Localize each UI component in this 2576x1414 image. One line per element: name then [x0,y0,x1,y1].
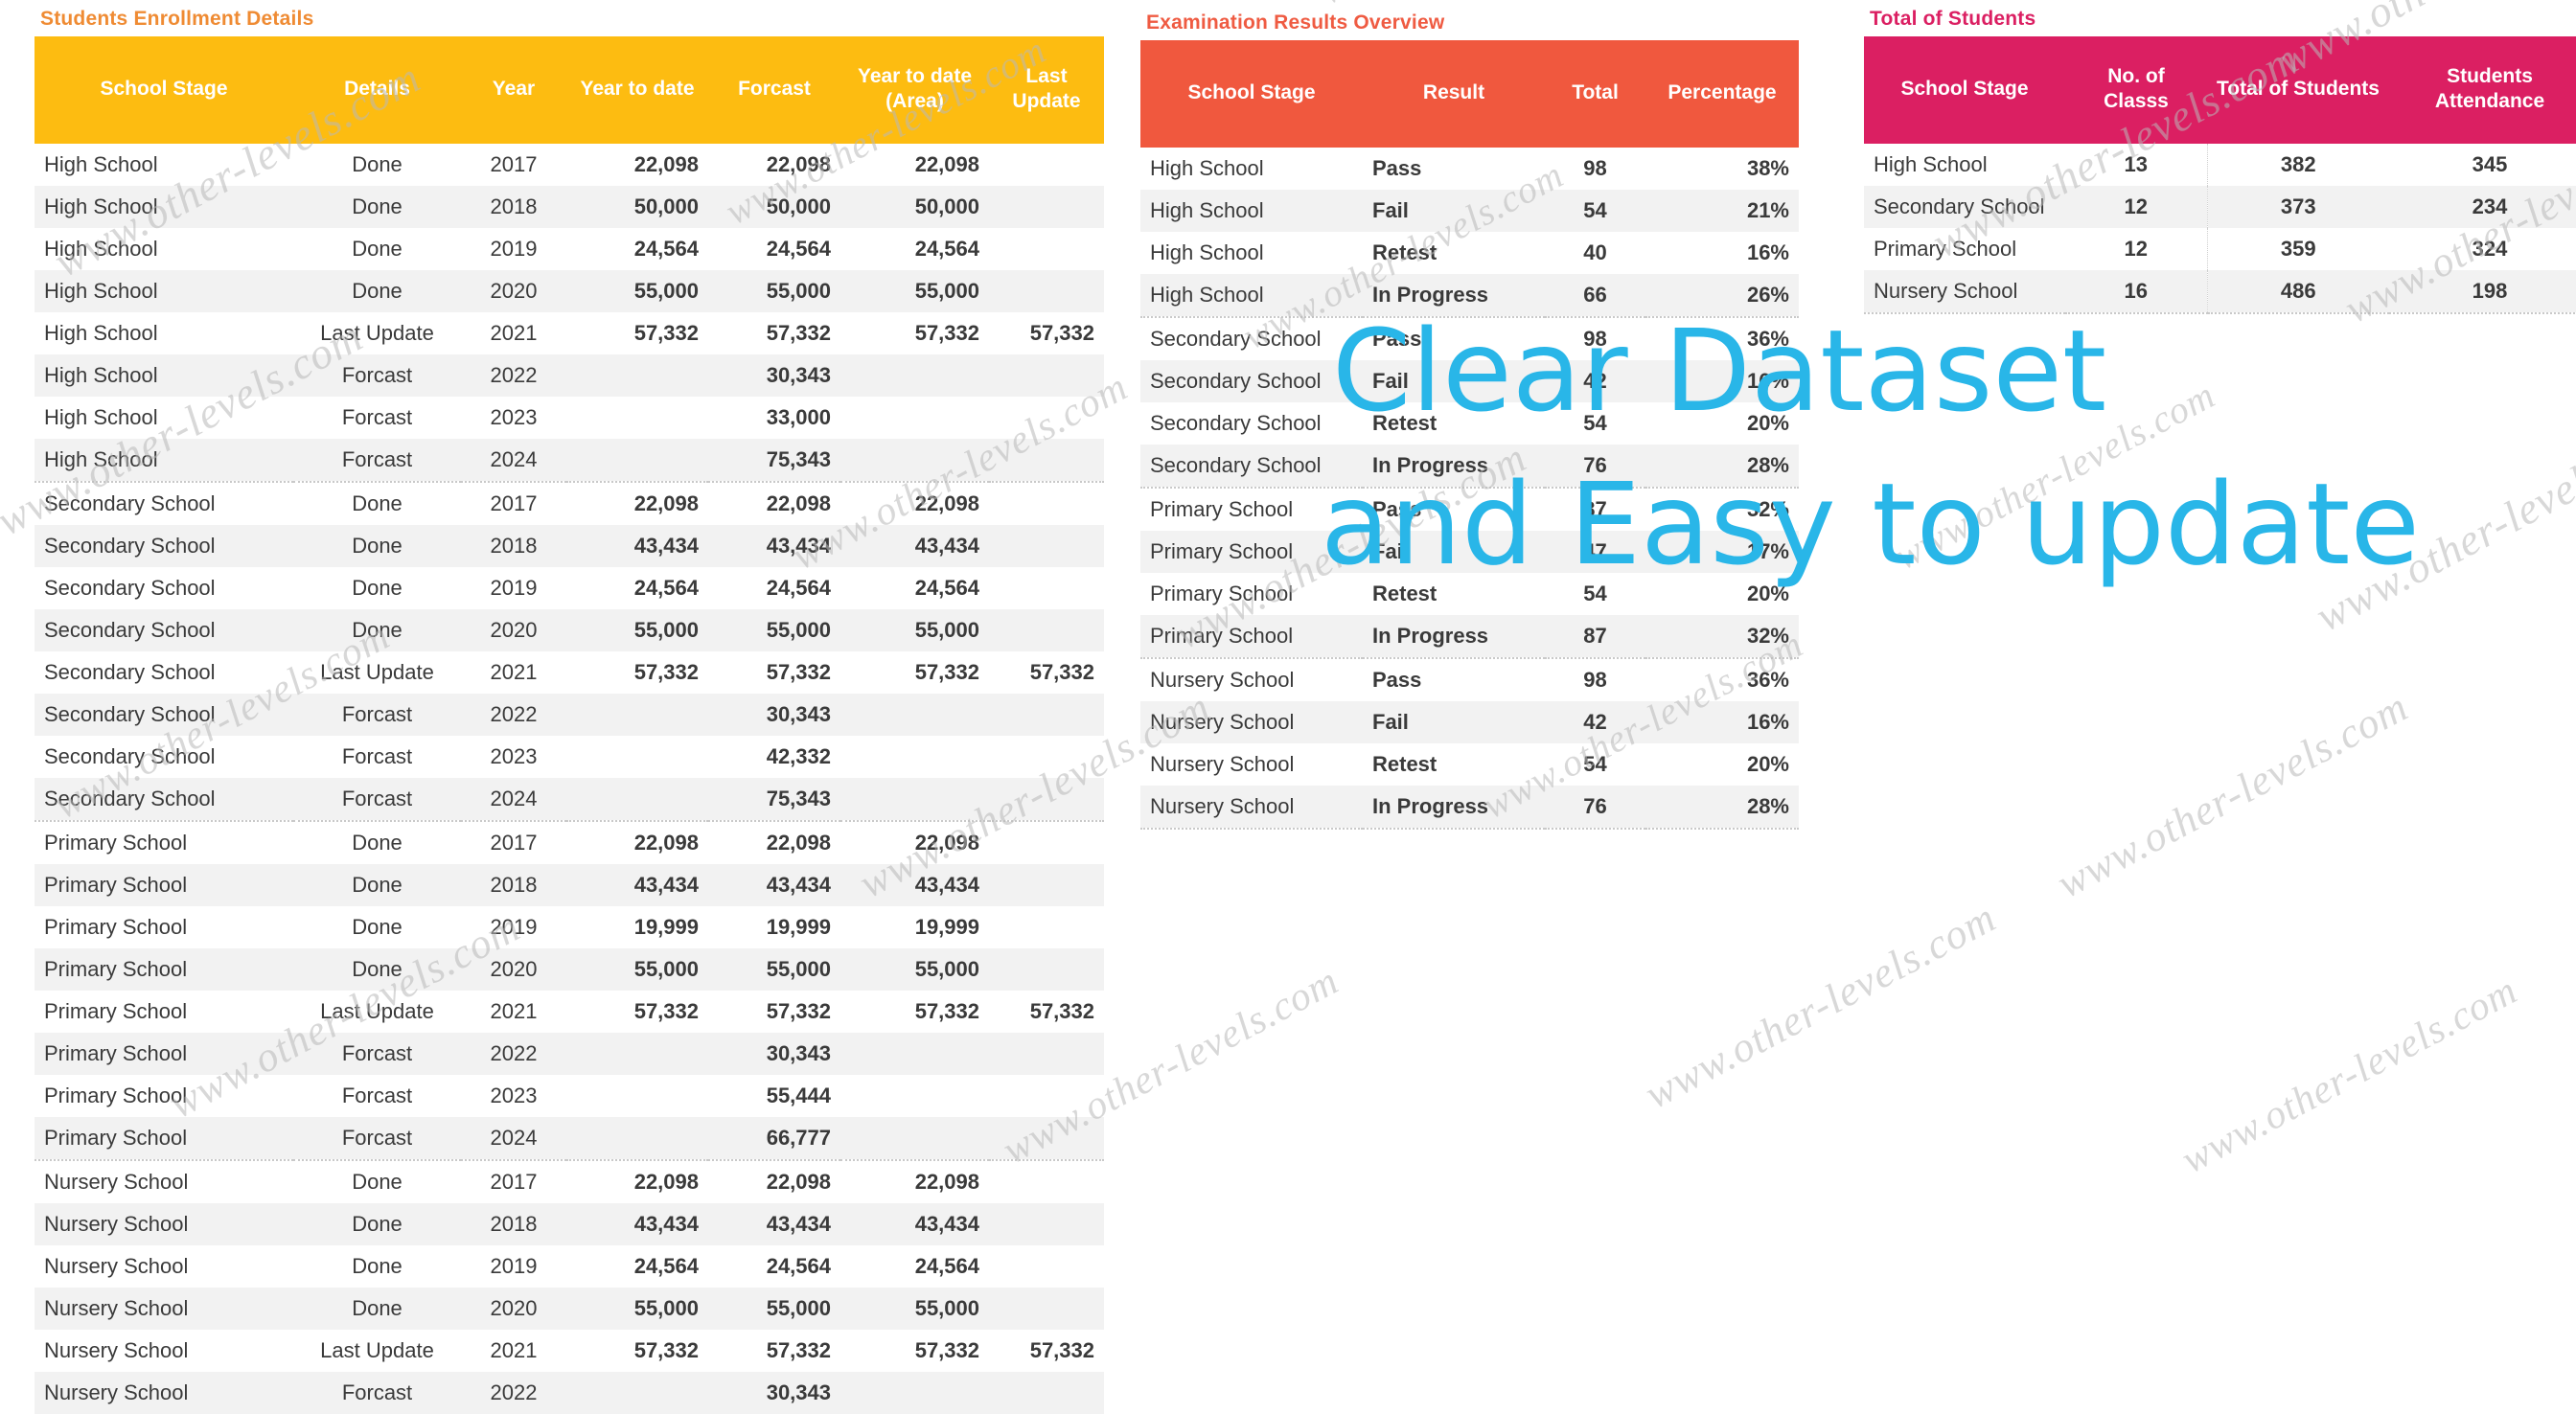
cell-last-update [989,144,1104,186]
exam-table-head: School Stage Result Total Percentage [1140,40,1799,148]
cell-last-update: 57,332 [989,312,1104,354]
cell-year-to-date-area [840,778,989,821]
cell-percentage: 20% [1645,402,1799,445]
cell-total: 42 [1545,360,1645,402]
cell-year-to-date: 24,564 [566,1245,708,1288]
cell-year-to-date-area: 22,098 [840,144,989,186]
table-row[interactable]: Primary SchoolRetest5420% [1140,573,1799,615]
cell-total: 87 [1545,488,1645,531]
table-row[interactable]: Primary SchoolDone202055,00055,00055,000 [34,948,1104,991]
cell-year: 2021 [461,651,566,694]
cell-details: Forcast [293,354,461,397]
table-row[interactable]: Secondary School1237323478 [1864,186,2576,228]
cell-details: Forcast [293,1372,461,1414]
cell-no-of-class: 12 [2065,228,2207,270]
cell-result: Retest [1363,743,1545,786]
cell-year-to-date: 55,000 [566,1288,708,1330]
cell-school-stage: Nursery School [34,1372,293,1414]
col-total-of-students[interactable]: Total of Students [2207,36,2389,144]
table-row[interactable]: Nursery SchoolDone201722,09822,09822,098 [34,1160,1104,1203]
cell-year-to-date-area: 50,000 [840,186,989,228]
cell-school-stage: Nursery School [34,1330,293,1372]
cell-details: Done [293,864,461,906]
table-row[interactable]: Nursery SchoolFail4216% [1140,701,1799,743]
cell-year-to-date: 19,999 [566,906,708,948]
table-row[interactable]: Nursery SchoolDone202055,00055,00055,000 [34,1288,1104,1330]
cell-year-to-date: 22,098 [566,1160,708,1203]
cell-year-to-date: 43,434 [566,1203,708,1245]
cell-last-update [989,1033,1104,1075]
table-row[interactable]: High SchoolDone202055,00055,00055,000 [34,270,1104,312]
cell-school-stage: Primary School [34,1075,293,1117]
cell-school-stage: Nursery School [1140,701,1363,743]
cell-year: 2022 [461,694,566,736]
watermark-text: www.other-levels.com [2308,406,2576,642]
cell-year-to-date: 57,332 [566,651,708,694]
cell-school-stage: High School [34,270,293,312]
cell-year: 2017 [461,144,566,186]
cell-year-to-date-area: 24,564 [840,1245,989,1288]
col-school-stage[interactable]: School Stage [1140,40,1363,148]
cell-forcast: 33,000 [708,397,840,439]
cell-year: 2017 [461,821,566,864]
cell-school-stage: High School [34,354,293,397]
cell-details: Forcast [293,439,461,482]
cell-forcast: 24,564 [708,1245,840,1288]
col-school-stage[interactable]: School Stage [1864,36,2065,144]
table-row[interactable]: High SchoolIn Progress6626% [1140,274,1799,317]
table-row[interactable]: Secondary SchoolDone201924,56424,56424,5… [34,567,1104,609]
table-row[interactable]: Secondary SchoolPass9836% [1140,317,1799,360]
cell-school-stage: High School [1140,274,1363,317]
cell-year-to-date-area: 43,434 [840,525,989,567]
table-row[interactable]: High SchoolForcast202230,343 [34,354,1104,397]
cell-school-stage: Secondary School [34,525,293,567]
cell-no-of-class: 13 [2065,144,2207,186]
cell-year-to-date: 57,332 [566,1330,708,1372]
cell-last-update: 57,332 [989,1330,1104,1372]
cell-year-to-date [566,778,708,821]
cell-percentage: 16% [1645,232,1799,274]
col-year-to-date-area[interactable]: Year to date (Area) [840,36,989,144]
col-total[interactable]: Total [1545,40,1645,148]
cell-last-update: 57,332 [989,651,1104,694]
table-row[interactable]: Primary SchoolDone201919,99919,99919,999 [34,906,1104,948]
cell-school-stage: Secondary School [34,651,293,694]
cell-last-update [989,906,1104,948]
cell-year: 2022 [461,1372,566,1414]
cell-details: Forcast [293,397,461,439]
cell-year-to-date-area: 57,332 [840,1330,989,1372]
cell-details: Done [293,482,461,525]
table-row[interactable]: Nursery SchoolRetest5420% [1140,743,1799,786]
cell-year-to-date [566,1075,708,1117]
cell-last-update [989,1372,1104,1414]
enrollment-table: School Stage Details Year Year to date F… [34,36,1104,1414]
cell-year-to-date: 55,000 [566,609,708,651]
cell-year: 2019 [461,228,566,270]
enrollment-table-body: High SchoolDone201722,09822,09822,098Hig… [34,144,1104,1414]
col-school-stage[interactable]: School Stage [34,36,293,144]
cell-last-update [989,354,1104,397]
col-result[interactable]: Result [1363,40,1545,148]
cell-students-attendance: 198 [2389,270,2576,313]
cell-total: 76 [1545,786,1645,829]
cell-details: Forcast [293,1033,461,1075]
cell-percentage: 26% [1645,274,1799,317]
cell-year: 2022 [461,354,566,397]
col-year[interactable]: Year [461,36,566,144]
cell-forcast: 55,000 [708,609,840,651]
cell-year-to-date-area: 24,564 [840,228,989,270]
cell-details: Done [293,186,461,228]
totals-table-block: Total of Students School Stage No. of Cl… [1864,8,2576,314]
cell-total: 54 [1545,573,1645,615]
table-row[interactable]: Nursery SchoolPass9836% [1140,658,1799,701]
table-row[interactable]: Primary SchoolForcast202466,777 [34,1117,1104,1160]
cell-forcast: 43,434 [708,864,840,906]
cell-details: Done [293,906,461,948]
cell-details: Done [293,144,461,186]
watermark-text: www.other-levels.com [2049,682,2416,908]
cell-school-stage: Primary School [1140,615,1363,658]
cell-total: 66 [1545,274,1645,317]
col-last-update[interactable]: Last Update [989,36,1104,144]
cell-school-stage: Nursery School [1140,743,1363,786]
cell-year-to-date-area [840,1117,989,1160]
cell-students-attendance: 324 [2389,228,2576,270]
cell-school-stage: Primary School [34,948,293,991]
cell-last-update [989,186,1104,228]
cell-percentage: 28% [1645,786,1799,829]
cell-last-update [989,864,1104,906]
col-year-to-date[interactable]: Year to date [566,36,708,144]
table-row[interactable]: Secondary SchoolDone202055,00055,00055,0… [34,609,1104,651]
cell-percentage: 36% [1645,317,1799,360]
cell-total: 98 [1545,658,1645,701]
cell-year-to-date [566,1117,708,1160]
table-row[interactable]: High SchoolFail5421% [1140,190,1799,232]
cell-details: Done [293,1245,461,1288]
exam-table-block: Examination Results Overview School Stag… [1140,11,1763,830]
cell-year-to-date-area [840,694,989,736]
cell-forcast: 42,332 [708,736,840,778]
table-row[interactable]: High SchoolDone201722,09822,09822,098 [34,144,1104,186]
cell-school-stage: Secondary School [1140,360,1363,402]
cell-result: Pass [1363,658,1545,701]
cell-forcast: 24,564 [708,228,840,270]
table-row[interactable]: Secondary SchoolDone201843,43443,43443,4… [34,525,1104,567]
table-row[interactable]: Secondary SchoolForcast202342,332 [34,736,1104,778]
table-row[interactable]: Primary SchoolPass8732% [1140,488,1799,531]
cell-year: 2020 [461,609,566,651]
table-row[interactable]: Secondary SchoolIn Progress7628% [1140,445,1799,488]
cell-school-stage: Primary School [34,991,293,1033]
cell-result: In Progress [1363,445,1545,488]
table-row[interactable]: High SchoolDone201924,56424,56424,564 [34,228,1104,270]
cell-school-stage: Primary School [1140,573,1363,615]
cell-forcast: 75,343 [708,778,840,821]
cell-forcast: 22,098 [708,482,840,525]
cell-year-to-date [566,1033,708,1075]
table-row[interactable]: Nursery SchoolDone201924,56424,56424,564 [34,1245,1104,1288]
table-row[interactable]: High SchoolPass9838% [1140,148,1799,190]
cell-total: 87 [1545,615,1645,658]
table-row[interactable]: Secondary SchoolDone201722,09822,09822,0… [34,482,1104,525]
cell-year-to-date-area: 55,000 [840,948,989,991]
cell-year-to-date-area: 57,332 [840,312,989,354]
cell-forcast: 50,000 [708,186,840,228]
table-row[interactable]: Nursery School1648619896 [1864,270,2576,313]
cell-last-update [989,270,1104,312]
cell-year-to-date [566,736,708,778]
cell-year-to-date: 24,564 [566,567,708,609]
table-row[interactable]: Secondary SchoolForcast202230,343 [34,694,1104,736]
cell-percentage: 20% [1645,743,1799,786]
cell-last-update [989,948,1104,991]
cell-year-to-date-area: 24,564 [840,567,989,609]
cell-school-stage: Nursery School [1864,270,2065,313]
col-students-attendance[interactable]: Students Attendance [2389,36,2576,144]
cell-details: Done [293,609,461,651]
cell-percentage: 32% [1645,488,1799,531]
table-row[interactable]: Primary SchoolLast Update202157,33257,33… [34,991,1104,1033]
cell-year-to-date-area [840,1372,989,1414]
cell-school-stage: Primary School [34,821,293,864]
cell-details: Forcast [293,1117,461,1160]
cell-last-update [989,1160,1104,1203]
table-row[interactable]: Nursery SchoolIn Progress7628% [1140,786,1799,829]
table-row[interactable]: High SchoolLast Update202157,33257,33257… [34,312,1104,354]
cell-last-update [989,228,1104,270]
cell-total: 54 [1545,402,1645,445]
cell-percentage: 32% [1645,615,1799,658]
cell-year: 2023 [461,736,566,778]
table-row[interactable]: Secondary SchoolForcast202475,343 [34,778,1104,821]
enrollment-table-title: Students Enrollment Details [40,8,1060,31]
table-row[interactable]: Primary SchoolForcast202355,444 [34,1075,1104,1117]
cell-school-stage: Nursery School [1140,658,1363,701]
table-row[interactable]: Primary SchoolDone201843,43443,43443,434 [34,864,1104,906]
cell-school-stage: Secondary School [34,736,293,778]
cell-year-to-date-area: 22,098 [840,821,989,864]
cell-last-update [989,1117,1104,1160]
cell-year-to-date-area: 43,434 [840,864,989,906]
cell-school-stage: High School [34,312,293,354]
table-row[interactable]: High SchoolRetest4016% [1140,232,1799,274]
cell-year: 2018 [461,1203,566,1245]
cell-last-update [989,778,1104,821]
exam-table-body: High SchoolPass9838%High SchoolFail5421%… [1140,148,1799,829]
cell-year-to-date-area [840,1033,989,1075]
cell-year-to-date: 50,000 [566,186,708,228]
cell-last-update [989,694,1104,736]
cell-result: Fail [1363,701,1545,743]
cell-total: 54 [1545,743,1645,786]
cell-school-stage: Nursery School [34,1288,293,1330]
table-row[interactable]: Primary SchoolFail4717% [1140,531,1799,573]
cell-forcast: 57,332 [708,651,840,694]
cell-year: 2018 [461,186,566,228]
cell-school-stage: Primary School [34,1117,293,1160]
cell-students-attendance: 234 [2389,186,2576,228]
cell-forcast: 30,343 [708,694,840,736]
cell-year: 2020 [461,270,566,312]
cell-forcast: 55,000 [708,948,840,991]
table-row[interactable]: High SchoolDone201850,00050,00050,000 [34,186,1104,228]
totals-clip-viewport: School Stage No. of Classs Total of Stud… [1864,36,2576,314]
table-row[interactable]: Secondary SchoolLast Update202157,33257,… [34,651,1104,694]
cell-total-of-students: 373 [2207,186,2389,228]
cell-year-to-date: 22,098 [566,482,708,525]
cell-details: Done [293,1288,461,1330]
table-row[interactable]: Primary SchoolForcast202230,343 [34,1033,1104,1075]
cell-details: Last Update [293,991,461,1033]
cell-result: Retest [1363,402,1545,445]
cell-school-stage: Nursery School [1140,786,1363,829]
cell-year: 2019 [461,567,566,609]
cell-details: Forcast [293,778,461,821]
cell-year-to-date: 22,098 [566,821,708,864]
cell-result: Pass [1363,317,1545,360]
cell-year: 2018 [461,525,566,567]
cell-total: 40 [1545,232,1645,274]
cell-year-to-date: 43,434 [566,864,708,906]
cell-total: 98 [1545,148,1645,190]
exam-table-title: Examination Results Overview [1146,11,1763,34]
cell-forcast: 57,332 [708,991,840,1033]
cell-year-to-date: 43,434 [566,525,708,567]
cell-total: 47 [1545,531,1645,573]
cell-total: 42 [1545,701,1645,743]
cell-total-of-students: 359 [2207,228,2389,270]
cell-total: 54 [1545,190,1645,232]
cell-last-update [989,397,1104,439]
table-row[interactable]: High SchoolForcast202333,000 [34,397,1104,439]
table-row[interactable]: Secondary SchoolFail4216% [1140,360,1799,402]
cell-year: 2023 [461,1075,566,1117]
table-row[interactable]: Primary SchoolDone201722,09822,09822,098 [34,821,1104,864]
cell-year: 2022 [461,1033,566,1075]
cell-school-stage: Secondary School [34,694,293,736]
cell-result: Pass [1363,148,1545,190]
cell-details: Done [293,567,461,609]
table-row[interactable]: Nursery SchoolForcast202230,343 [34,1372,1104,1414]
cell-year: 2017 [461,482,566,525]
cell-percentage: 28% [1645,445,1799,488]
cell-year-to-date [566,397,708,439]
cell-forcast: 22,098 [708,821,840,864]
cell-result: In Progress [1363,786,1545,829]
watermark-text: www.other-levels.com [1637,893,2004,1119]
cell-school-stage: High School [34,228,293,270]
cell-last-update [989,821,1104,864]
cell-last-update [989,567,1104,609]
cell-percentage: 36% [1645,658,1799,701]
cell-result: Fail [1363,360,1545,402]
cell-school-stage: Secondary School [34,778,293,821]
cell-school-stage: Primary School [1864,228,2065,270]
cell-year: 2020 [461,1288,566,1330]
cell-year-to-date-area [840,397,989,439]
cell-school-stage: Primary School [34,1033,293,1075]
cell-percentage: 38% [1645,148,1799,190]
cell-details: Last Update [293,1330,461,1372]
table-row[interactable]: Secondary SchoolRetest5420% [1140,402,1799,445]
cell-result: Retest [1363,573,1545,615]
cell-details: Done [293,948,461,991]
col-no-of-class[interactable]: No. of Classs [2065,36,2207,144]
cell-details: Last Update [293,312,461,354]
cell-forcast: 55,444 [708,1075,840,1117]
watermark-text: www.other-levels.com [1887,372,2222,579]
cell-forcast: 75,343 [708,439,840,482]
cell-last-update [989,1075,1104,1117]
cell-school-stage: Secondary School [1140,445,1363,488]
cell-details: Done [293,270,461,312]
cell-year-to-date-area: 55,000 [840,609,989,651]
exam-header-row: School Stage Result Total Percentage [1140,40,1799,148]
cell-year-to-date: 57,332 [566,991,708,1033]
col-percentage[interactable]: Percentage [1645,40,1799,148]
cell-last-update [989,1288,1104,1330]
cell-year: 2021 [461,1330,566,1372]
cell-percentage: 20% [1645,573,1799,615]
cell-result: Fail [1363,190,1545,232]
cell-forcast: 19,999 [708,906,840,948]
cell-forcast: 22,098 [708,144,840,186]
cell-year-to-date: 55,000 [566,948,708,991]
cell-year-to-date-area: 22,098 [840,1160,989,1203]
cell-school-stage: Secondary School [1864,186,2065,228]
totals-table-title: Total of Students [1870,8,2576,31]
watermark-text: www.other-levels.com [2174,968,2525,1183]
dashboard-canvas: www.other-levels.comwww.other-levels.com… [0,0,2576,1414]
table-row[interactable]: Nursery SchoolLast Update202157,33257,33… [34,1330,1104,1372]
col-forcast[interactable]: Forcast [708,36,840,144]
table-row[interactable]: Primary SchoolIn Progress8732% [1140,615,1799,658]
cell-school-stage: Secondary School [34,567,293,609]
cell-no-of-class: 16 [2065,270,2207,313]
cell-result: In Progress [1363,615,1545,658]
enrollment-table-head: School Stage Details Year Year to date F… [34,36,1104,144]
table-row[interactable]: High SchoolForcast202475,343 [34,439,1104,482]
cell-percentage: 17% [1645,531,1799,573]
cell-year: 2023 [461,397,566,439]
col-details[interactable]: Details [293,36,461,144]
table-row[interactable]: Nursery SchoolDone201843,43443,43443,434 [34,1203,1104,1245]
cell-year: 2024 [461,1117,566,1160]
cell-forcast: 22,098 [708,1160,840,1203]
cell-details: Done [293,1160,461,1203]
cell-year-to-date-area: 55,000 [840,1288,989,1330]
cell-details: Done [293,1203,461,1245]
cell-year: 2019 [461,906,566,948]
cell-forcast: 24,564 [708,567,840,609]
cell-year-to-date-area [840,736,989,778]
table-row[interactable]: High School1338234577 [1864,144,2576,186]
exam-table: School Stage Result Total Percentage Hig… [1140,40,1799,830]
cell-year-to-date-area: 57,332 [840,991,989,1033]
table-row[interactable]: Primary School1235932487 [1864,228,2576,270]
cell-school-stage: High School [34,186,293,228]
cell-percentage: 16% [1645,360,1799,402]
cell-year-to-date-area [840,439,989,482]
cell-last-update [989,439,1104,482]
cell-result: Pass [1363,488,1545,531]
cell-school-stage: Primary School [34,864,293,906]
cell-year-to-date: 22,098 [566,144,708,186]
